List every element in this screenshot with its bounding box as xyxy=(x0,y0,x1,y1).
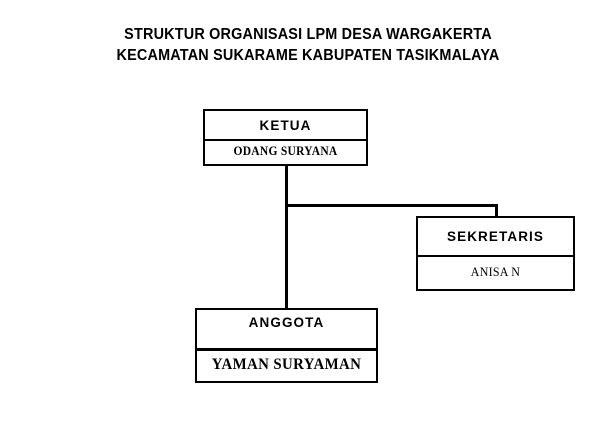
node-sekretaris-person: ANISA N xyxy=(424,255,567,289)
node-ketua-person: ODANG SURYANA xyxy=(211,139,359,164)
node-ketua[interactable]: KETUA ODANG SURYANA xyxy=(203,109,368,166)
org-chart-canvas: STRUKTUR ORGANISASI LPM DESA WARGAKERTA … xyxy=(0,0,616,437)
node-ketua-role: KETUA xyxy=(205,111,366,139)
node-sekretaris-role: SEKRETARIS xyxy=(418,218,573,255)
node-sekretaris[interactable]: SEKRETARIS ANISA N xyxy=(416,216,575,291)
chart-title-line-1: STRUKTUR ORGANISASI LPM DESA WARGAKERTA xyxy=(22,24,595,45)
chart-title-line-2: KECAMATAN SUKARAME KABUPATEN TASIKMALAYA xyxy=(22,45,595,66)
connector-ketua-vertical xyxy=(285,166,288,309)
node-anggota-person: YAMAN SURYAMAN xyxy=(203,348,369,381)
node-anggota-role: ANGGOTA xyxy=(197,310,376,348)
connector-sekretaris-horizontal xyxy=(285,204,498,207)
node-anggota[interactable]: ANGGOTA YAMAN SURYAMAN xyxy=(195,308,378,383)
chart-title: STRUKTUR ORGANISASI LPM DESA WARGAKERTA … xyxy=(0,24,616,66)
